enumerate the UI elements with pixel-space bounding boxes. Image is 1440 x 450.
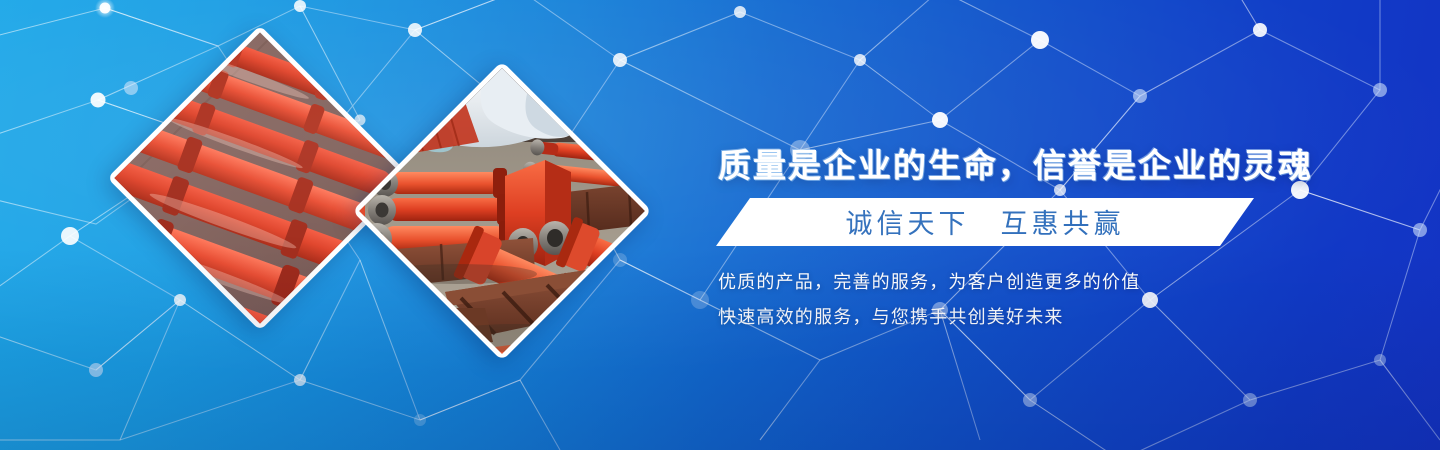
banner-subtitle-line-2: 快速高效的服务，与您携手共创美好未来 — [718, 303, 1252, 329]
slogan-ribbon-text: 诚信天下 互惠共赢 — [716, 198, 1254, 246]
banner-subtitle-line-1: 优质的产品，完善的服务，为客户创造更多的价值 — [718, 268, 1252, 294]
slogan-ribbon: 诚信天下 互惠共赢 — [716, 198, 1254, 246]
banner-headline: 质量是企业的生命，信誉是企业的灵魂 — [718, 139, 1252, 187]
promo-banner: 质量是企业的生命，信誉是企业的灵魂 诚信天下 互惠共赢 优质的产品，完善的服务，… — [0, 0, 1440, 450]
banner-copy: 质量是企业的生命，信誉是企业的灵魂 诚信天下 互惠共赢 优质的产品，完善的服务，… — [700, 0, 1260, 450]
